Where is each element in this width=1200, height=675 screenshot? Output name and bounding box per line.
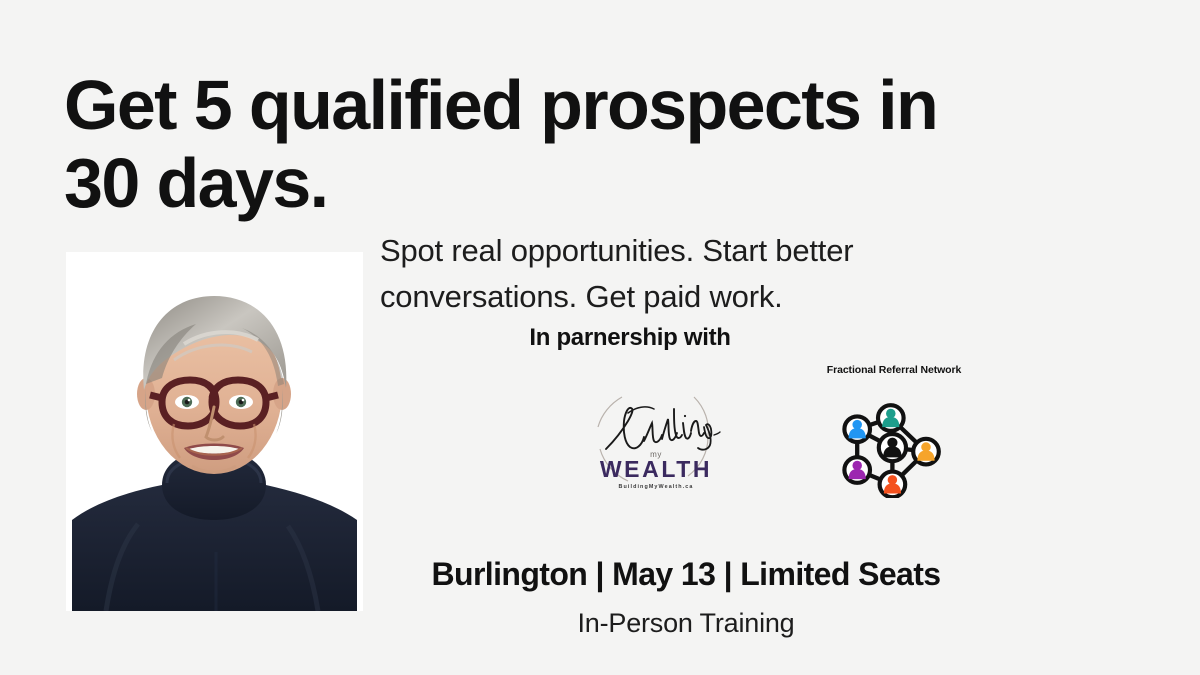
event-format: In-Person Training: [330, 608, 1042, 639]
portrait-illustration: [66, 252, 363, 611]
person-node-black: [879, 434, 906, 461]
bmw-script-word: [606, 407, 720, 450]
person-node-purple: [844, 457, 870, 483]
person-node-blue: [844, 416, 870, 442]
building-my-wealth-logo: my WEALTH BuildingMyWealth.ca: [570, 383, 742, 495]
presenter-portrait: [66, 252, 363, 611]
bmw-main-word: WEALTH: [600, 456, 712, 482]
network-graph-icon: [818, 386, 970, 498]
bmw-logo-mark: my WEALTH BuildingMyWealth.ca: [570, 383, 742, 495]
fractional-referral-network-logo: Fractional Referral Network: [818, 364, 970, 499]
partnership-label: In parnership with: [380, 324, 880, 352]
page-title: Get 5 qualified prospects in 30 days.: [64, 66, 1064, 222]
bmw-url-text: BuildingMyWealth.ca: [618, 484, 693, 490]
event-details: Burlington | May 13 | Limited Seats: [330, 556, 1042, 593]
subtitle-text: Spot real opportunities. Start better co…: [380, 228, 1000, 320]
frn-title: Fractional Referral Network: [818, 364, 970, 376]
promo-banner: Get 5 qualified prospects in 30 days.: [0, 0, 1200, 675]
person-node-red: [880, 472, 906, 498]
person-node-orange: [913, 439, 939, 465]
person-node-teal: [878, 405, 904, 431]
